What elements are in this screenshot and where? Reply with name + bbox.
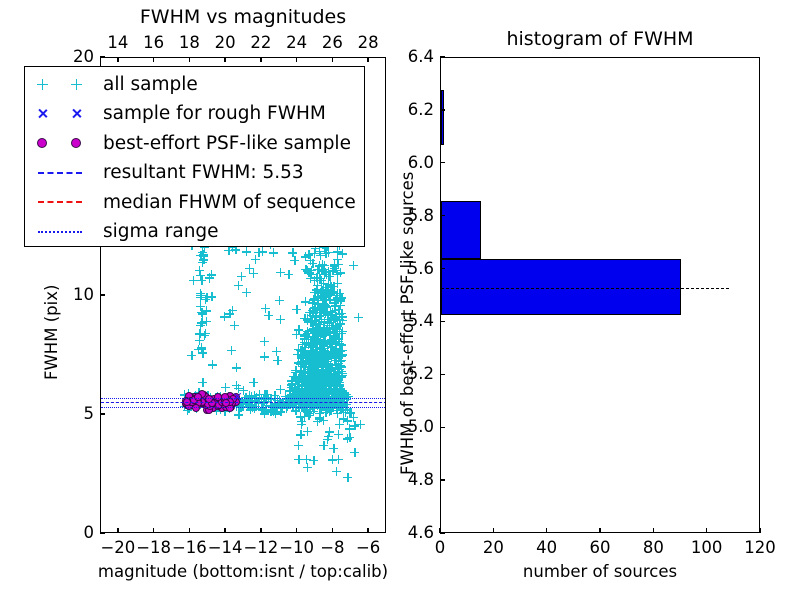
axis-tick [153, 528, 154, 533]
x-tick-label: 0 [435, 540, 446, 557]
scatter-xlabel: magnitude (bottom:isnt / top:calib) [98, 564, 388, 581]
scatter-point-all-sample [337, 367, 346, 376]
top-x-tick-label: 26 [322, 35, 343, 52]
x-tick-label: 20 [483, 540, 504, 557]
top-x-tick-label: 18 [179, 35, 200, 52]
axis-tick [117, 57, 118, 62]
scatter-point-all-sample [198, 349, 207, 358]
y-tick-label: 4.6 [394, 525, 434, 542]
scatter-point-all-sample [294, 441, 303, 450]
scatter-point-all-sample [329, 444, 338, 453]
scatter-point-all-sample [310, 288, 319, 297]
axis-tick [653, 528, 654, 533]
axis-tick [260, 57, 261, 62]
scatter-point-all-sample [275, 296, 284, 305]
x-tick-label: 120 [744, 540, 776, 557]
scatter-point-all-sample [261, 304, 270, 313]
x-tick-label: 80 [643, 540, 664, 557]
scatter-point-all-sample [350, 448, 359, 457]
top-x-tick-label: 28 [358, 35, 379, 52]
top-x-tick-label: 16 [143, 35, 164, 52]
scatter-point-all-sample [195, 329, 204, 338]
histogram-xlabel: number of sources [523, 564, 677, 581]
scatter-point-all-sample [207, 292, 216, 301]
y-tick-label: 10 [60, 287, 94, 304]
legend-marker-cell [25, 187, 103, 217]
scatter-point-all-sample [198, 378, 207, 387]
scatter-point-all-sample [249, 378, 258, 387]
axis-tick [100, 413, 105, 414]
y-tick-label: 6.0 [394, 155, 434, 172]
dashed-line-icon [38, 201, 82, 203]
scatter-point-all-sample [308, 364, 317, 373]
plus-icon [37, 79, 48, 90]
axis-tick [100, 294, 105, 295]
legend-marker-cell [25, 69, 103, 99]
scatter-point-all-sample [228, 306, 237, 315]
scatter-point-all-sample [313, 265, 322, 274]
x-tick-label: −20 [100, 540, 135, 557]
scatter-point-all-sample [350, 421, 359, 430]
scatter-point-all-sample [260, 337, 269, 346]
axis-tick [440, 215, 445, 216]
axis-tick [493, 528, 494, 533]
scatter-point-all-sample [227, 346, 236, 355]
circle-icon [37, 138, 47, 148]
top-x-tick-label: 20 [215, 35, 236, 52]
axis-tick [440, 268, 445, 269]
histogram-bar[interactable] [441, 201, 481, 259]
scatter-point-all-sample [242, 247, 251, 256]
cross-icon [37, 108, 48, 119]
axis-tick [706, 528, 707, 533]
axis-tick [367, 57, 368, 62]
top-x-tick-label: 24 [286, 35, 307, 52]
scatter-point-all-sample [318, 348, 327, 357]
axis-tick [440, 321, 445, 322]
scatter-point-rough-sample [233, 392, 242, 401]
x-tick-label: −10 [279, 540, 314, 557]
scatter-point-all-sample [304, 332, 313, 341]
scatter-point-all-sample [232, 363, 241, 372]
axis-tick [189, 57, 190, 62]
legend-item-label: sigma range [103, 221, 219, 242]
histogram-plot-area[interactable] [440, 57, 760, 533]
scatter-point-all-sample [319, 441, 328, 450]
scatter-point-all-sample [273, 356, 282, 365]
scatter-point-all-sample [187, 351, 196, 360]
histogram-reference-line [441, 288, 729, 289]
resultant-fwhm-line [101, 402, 385, 403]
scatter-point-all-sample [354, 313, 363, 322]
scatter-point-all-sample [327, 337, 336, 346]
axis-tick [440, 374, 445, 375]
scatter-point-all-sample [195, 266, 204, 275]
scatter-point-all-sample [288, 248, 297, 257]
scatter-point-all-sample [237, 272, 246, 281]
scatter-point-all-sample [305, 409, 314, 418]
axis-tick [100, 532, 105, 533]
scatter-point-all-sample [337, 329, 346, 338]
scatter-point-all-sample [325, 427, 334, 436]
legend-item-2[interactable]: best-effort PSF-like sample [25, 128, 364, 158]
legend-marker-cell [25, 158, 103, 188]
y-tick-label: 20 [60, 49, 94, 66]
x-tick-label: 100 [691, 540, 723, 557]
dash-dot-line-icon [38, 231, 82, 233]
scatter-point-all-sample [245, 264, 254, 273]
legend-item-5[interactable]: sigma range [25, 217, 364, 247]
scatter-point-all-sample [310, 349, 319, 358]
axis-tick [260, 528, 261, 533]
legend[interactable]: all samplesample for rough FWHMbest-effo… [24, 66, 365, 247]
scatter-point-all-sample [221, 383, 230, 392]
axis-tick [224, 528, 225, 533]
legend-item-label: median FHWM of sequence [103, 192, 356, 213]
y-tick-label: 5 [60, 406, 94, 423]
scatter-point-all-sample [304, 250, 313, 259]
scatter-point-all-sample [272, 347, 281, 356]
scatter-point-all-sample [349, 261, 358, 270]
scatter-title: FWHM vs magnitudes [140, 8, 346, 27]
axis-tick [296, 57, 297, 62]
scatter-point-all-sample [269, 248, 278, 257]
histogram-title: histogram of FWHM [506, 30, 693, 49]
axis-tick [224, 57, 225, 62]
x-tick-label: −14 [208, 540, 243, 557]
scatter-point-all-sample [332, 467, 341, 476]
legend-marker-cell [25, 99, 103, 129]
scatter-point-all-sample [345, 433, 354, 442]
scatter-point-all-sample [303, 427, 312, 436]
scatter-point-all-sample [313, 417, 322, 426]
x-tick-label: −18 [136, 540, 171, 557]
axis-tick [599, 528, 600, 533]
scatter-point-all-sample [260, 409, 269, 418]
axis-tick [367, 528, 368, 533]
plus-icon [71, 79, 82, 90]
legend-item-label: all sample [103, 74, 198, 95]
scatter-point-all-sample [258, 247, 267, 256]
dashed-line-icon [38, 172, 82, 174]
top-x-tick-label: 22 [250, 35, 271, 52]
x-tick-label: −8 [320, 540, 344, 557]
scatter-point-all-sample [234, 281, 243, 290]
legend-item-label: best-effort PSF-like sample [103, 133, 351, 154]
sigma-range-upper-line [101, 398, 385, 399]
axis-tick [189, 528, 190, 533]
cross-icon [71, 108, 82, 119]
scatter-point-all-sample [199, 250, 208, 259]
scatter-point-all-sample [301, 297, 310, 306]
scatter-point-all-sample [220, 312, 229, 321]
x-tick-label: 60 [590, 540, 611, 557]
legend-item-4[interactable]: median FHWM of sequence [25, 187, 364, 217]
scatter-point-all-sample [208, 360, 217, 369]
scatter-point-all-sample [322, 361, 331, 370]
scatter-point-all-sample [326, 289, 335, 298]
axis-tick [332, 528, 333, 533]
legend-marker-cell [25, 217, 103, 247]
x-tick-label: 40 [536, 540, 557, 557]
axis-tick [440, 162, 445, 163]
scatter-point-all-sample [294, 455, 303, 464]
scatter-point-all-sample [189, 276, 198, 285]
legend-item-1[interactable]: sample for rough FWHM [25, 99, 364, 129]
scatter-point-all-sample [343, 473, 352, 482]
axis-tick [117, 528, 118, 533]
scatter-point-all-sample [197, 318, 206, 327]
axis-tick [153, 57, 154, 62]
scatter-point-all-sample [276, 315, 285, 324]
axis-tick [440, 56, 445, 57]
axis-tick [440, 532, 445, 533]
axis-tick [100, 56, 105, 57]
axis-tick [332, 57, 333, 62]
y-tick-label: 6.4 [394, 49, 434, 66]
axis-tick [296, 528, 297, 533]
legend-item-label: resultant FWHM: 5.53 [103, 162, 304, 183]
scatter-point-all-sample [317, 276, 326, 285]
x-tick-label: −16 [172, 540, 207, 557]
scatter-point-all-sample [260, 352, 269, 361]
scatter-point-all-sample [323, 375, 332, 384]
scatter-point-all-sample [327, 316, 336, 325]
axis-tick [759, 528, 760, 533]
histogram-bar[interactable] [441, 259, 681, 315]
scatter-point-all-sample [328, 455, 337, 464]
scatter-point-all-sample [290, 256, 299, 265]
scatter-point-all-sample [315, 305, 324, 314]
sigma-range-lower-line [101, 407, 385, 408]
x-tick-label: −12 [243, 540, 278, 557]
axis-tick [440, 109, 445, 110]
histogram-bar[interactable] [441, 90, 444, 146]
scatter-point-all-sample [332, 346, 341, 355]
x-tick-label: −6 [356, 540, 380, 557]
y-tick-label: 0 [60, 525, 94, 542]
scatter-ylabel: FWHM (pix) [44, 285, 61, 380]
scatter-point-all-sample [325, 407, 334, 416]
scatter-point-all-sample [234, 410, 243, 419]
y-tick-label: 6.2 [394, 102, 434, 119]
scatter-point-all-sample [271, 409, 280, 418]
legend-item-label: sample for rough FWHM [103, 103, 326, 124]
scatter-point-all-sample [296, 366, 305, 375]
axis-tick [546, 528, 547, 533]
scatter-point-all-sample [202, 306, 211, 315]
circle-icon [71, 138, 81, 148]
histogram-ylabel: FWHM of best-effort PSF-like sources [400, 172, 417, 475]
legend-item-3[interactable]: resultant FWHM: 5.53 [25, 158, 364, 188]
scatter-point-all-sample [303, 463, 312, 472]
legend-item-0[interactable]: all sample [25, 69, 364, 99]
scatter-point-all-sample [242, 288, 251, 297]
legend-marker-cell [25, 128, 103, 158]
axis-tick [440, 479, 445, 480]
scatter-point-all-sample [284, 270, 293, 279]
top-x-tick-label: 14 [107, 35, 128, 52]
scatter-point-all-sample [334, 260, 343, 269]
scatter-point-all-sample [230, 321, 239, 330]
scatter-point-all-sample [301, 347, 310, 356]
figure-canvas: FWHM vs magnitudes 1416182022242628 −20−… [0, 0, 800, 600]
scatter-point-all-sample [205, 274, 214, 283]
axis-tick [440, 427, 445, 428]
scatter-point-all-sample [338, 249, 347, 258]
scatter-point-all-sample [276, 268, 285, 277]
